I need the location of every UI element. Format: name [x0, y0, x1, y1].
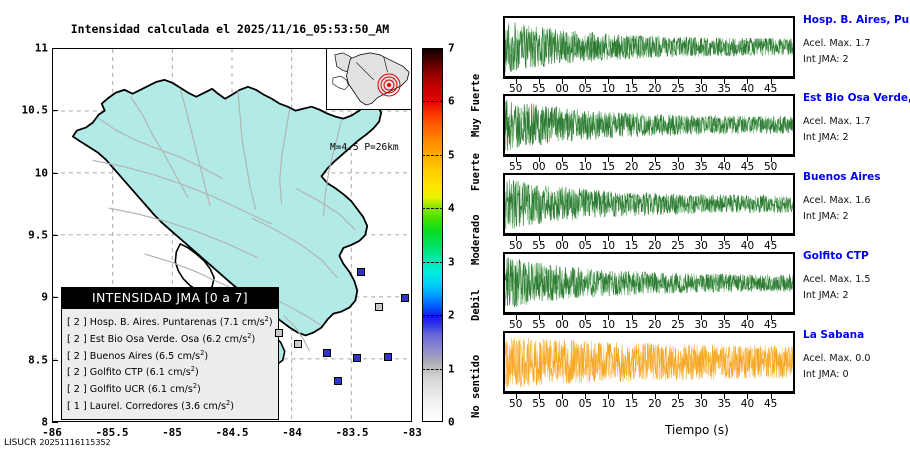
- axis-line: [503, 314, 795, 315]
- axis-tick-label: 40: [741, 398, 754, 410]
- axis-tick-label: 55: [532, 240, 545, 252]
- axis-line: [503, 156, 795, 157]
- waveform-primary-component: [505, 338, 793, 387]
- intensity-map-figure: Intensidad calculada el 2025/11/16_05:53…: [0, 0, 490, 460]
- map-y-tick-label: 9: [4, 291, 48, 304]
- footer-lab: LISUCR: [4, 438, 37, 448]
- seismogram-x-axis: 550005101520253035404550: [503, 156, 795, 172]
- axis-tick-label: 40: [718, 161, 731, 173]
- axis-tick-label: 00: [555, 398, 568, 410]
- axis-tick-label: 45: [764, 240, 777, 252]
- seismogram-x-axis: 505500051015202530354045: [503, 235, 795, 251]
- axis-tick-label: 25: [648, 161, 661, 173]
- seismogram-trace-box[interactable]: [503, 331, 795, 393]
- axis-line: [503, 78, 795, 79]
- map-y-tick-mark: [52, 173, 58, 174]
- map-y-tick-mark: [52, 235, 58, 236]
- colorbar-tick-label: 2: [448, 309, 455, 322]
- map-title: Intensidad calculada el 2025/11/16_05:53…: [0, 22, 460, 36]
- seismogram-jma-intensity: Int JMA: 2: [803, 211, 849, 222]
- axis-tick-label: 25: [671, 240, 684, 252]
- axis-tick-label: 05: [555, 161, 568, 173]
- seismogram-station-name[interactable]: Hosp. B. Aires, Puntare: [803, 14, 910, 26]
- map-inset-overview: [326, 48, 412, 110]
- seismogram-jma-intensity: Int JMA: 2: [803, 290, 849, 301]
- seismogram-max-acceleration: Acel. Max. 0.0: [803, 353, 871, 364]
- axis-tick-label: 00: [532, 161, 545, 173]
- seismogram-max-acceleration: Acel. Max. 1.7: [803, 38, 871, 49]
- map-x-tick-label: -85: [162, 426, 182, 439]
- seismogram-max-acceleration: Acel. Max. 1.6: [803, 195, 871, 206]
- axis-tick-label: 15: [602, 161, 615, 173]
- seismogram-trace-box[interactable]: [503, 173, 795, 235]
- seismogram-station-name[interactable]: Buenos Aires: [803, 171, 880, 183]
- axis-tick-label: 35: [694, 161, 707, 173]
- map-station-marker[interactable]: [357, 268, 365, 276]
- seismogram-station-name[interactable]: Golfito CTP: [803, 250, 869, 262]
- seismogram-trace-box[interactable]: [503, 252, 795, 314]
- seismogram-waveform-svg: [505, 254, 793, 312]
- axis-tick-label: 35: [718, 240, 731, 252]
- axis-tick-label: 45: [764, 319, 777, 331]
- seismogram-x-axis: 505500051015202530354045: [503, 393, 795, 409]
- colorbar-tick-label: 1: [448, 362, 455, 375]
- axis-tick-label: 30: [694, 398, 707, 410]
- map-x-tick-label: -85.5: [95, 426, 128, 439]
- axis-tick-label: 45: [764, 398, 777, 410]
- map-station-marker[interactable]: [294, 340, 302, 348]
- seismogram-waveform-svg: [505, 18, 793, 76]
- colorbar-tick-label: 6: [448, 95, 455, 108]
- axis-tick-label: 55: [532, 398, 545, 410]
- colorbar-tick-label: 4: [448, 202, 455, 215]
- colorbar-tick-label: 7: [448, 42, 455, 55]
- axis-tick-label: 20: [648, 319, 661, 331]
- map-y-tick-mark: [52, 360, 58, 361]
- map-y-tick-mark: [52, 110, 58, 111]
- seismogram-waveform-svg: [505, 96, 793, 154]
- axis-tick-label: 20: [625, 161, 638, 173]
- seismogram-waveform-svg: [505, 333, 793, 391]
- map-y-tick-label: 11: [4, 42, 48, 55]
- axis-tick-label: 55: [532, 319, 545, 331]
- map-station-marker[interactable]: [334, 377, 342, 385]
- axis-tick-label: 30: [694, 319, 707, 331]
- axis-tick-label: 15: [625, 319, 638, 331]
- axis-tick-label: 50: [509, 240, 522, 252]
- map-y-tick-label: 10: [4, 166, 48, 179]
- axis-tick-label: 35: [718, 398, 731, 410]
- axis-tick-label: 00: [555, 319, 568, 331]
- axis-tick-label: 35: [718, 319, 731, 331]
- seismogram-panels: Tiempo (s) 505500051015202530354045Hosp.…: [490, 0, 910, 460]
- colorbar-category-label: Debil: [470, 289, 482, 321]
- seismogram-jma-intensity: Int JMA: 2: [803, 132, 849, 143]
- axis-tick-label: 05: [579, 398, 592, 410]
- axis-tick-label: 55: [509, 161, 522, 173]
- footer-credit: LISUCR 20251116115352: [4, 438, 111, 448]
- axis-tick-label: 10: [602, 240, 615, 252]
- seismogram-station-name[interactable]: La Sabana: [803, 329, 864, 341]
- map-y-tick-mark: [52, 422, 58, 423]
- axis-tick-label: 00: [555, 240, 568, 252]
- axis-line: [503, 235, 795, 236]
- axis-tick-label: 10: [602, 398, 615, 410]
- axis-tick-label: 15: [625, 240, 638, 252]
- axis-tick-label: 30: [694, 240, 707, 252]
- axis-tick-label: 40: [741, 319, 754, 331]
- seismogram-jma-intensity: Int JMA: 2: [803, 54, 849, 65]
- footer-timestamp: 20251116115352: [39, 438, 110, 447]
- colorbar-tick-label: 0: [448, 416, 455, 429]
- axis-tick-label: 50: [509, 319, 522, 331]
- seismogram-waveform-svg: [505, 175, 793, 233]
- colorbar-category-label: Fuerte: [470, 153, 482, 191]
- colorbar-category-label: Muy Fuerte: [470, 74, 482, 137]
- colorbar-tick-label: 5: [448, 148, 455, 161]
- map-station-marker[interactable]: [353, 354, 361, 362]
- map-station-marker[interactable]: [375, 303, 383, 311]
- map-x-tick-label: -83: [402, 426, 422, 439]
- epicenter-ring-4: [378, 74, 401, 97]
- colorbar-category-label: No sentido: [470, 354, 482, 417]
- axis-tick-label: 10: [579, 161, 592, 173]
- seismogram-trace-box[interactable]: [503, 94, 795, 156]
- axis-tick-label: 25: [671, 319, 684, 331]
- map-x-tick-label: -84.5: [215, 426, 248, 439]
- map-y-tick-mark: [52, 48, 58, 49]
- axis-tick-label: 20: [648, 398, 661, 410]
- seismogram-x-axis: 505500051015202530354045: [503, 314, 795, 330]
- axis-tick-label: 05: [579, 240, 592, 252]
- seismogram-trace-box[interactable]: [503, 16, 795, 78]
- axis-tick-label: 50: [764, 161, 777, 173]
- axis-tick-label: 20: [648, 240, 661, 252]
- map-x-tick-label: -84: [282, 426, 302, 439]
- map-station-marker[interactable]: [275, 329, 283, 337]
- axis-tick-label: 15: [625, 398, 638, 410]
- axis-line: [503, 393, 795, 394]
- axis-tick-label: 50: [509, 398, 522, 410]
- inset-magnitude-depth: M=4.5 P=26km: [330, 142, 399, 153]
- axis-tick-label: 45: [741, 161, 754, 173]
- colorbar-tick-label: 3: [448, 255, 455, 268]
- map-x-tick-label: -86: [42, 426, 62, 439]
- seismogram-jma-intensity: Int JMA: 0: [803, 369, 849, 380]
- colorbar-category-label: Moderado: [470, 214, 482, 265]
- seismogram-x-axis: 505500051015202530354045: [503, 78, 795, 94]
- axis-tick-label: 10: [602, 319, 615, 331]
- seismogram-x-axis-label: Tiempo (s): [665, 423, 729, 437]
- map-station-marker[interactable]: [401, 294, 409, 302]
- map-y-tick-mark: [52, 297, 58, 298]
- axis-tick-label: 05: [579, 319, 592, 331]
- map-y-tick-label: 8.5: [4, 353, 48, 366]
- seismogram-station-name[interactable]: Est Bio Osa Verde, Osa: [803, 92, 910, 104]
- intensity-colorbar: [422, 48, 443, 422]
- map-station-marker[interactable]: [323, 349, 331, 357]
- seismogram-max-acceleration: Acel. Max. 1.5: [803, 274, 871, 285]
- map-y-tick-label: 9.5: [4, 229, 48, 242]
- axis-tick-label: 25: [671, 398, 684, 410]
- axis-tick-label: 30: [671, 161, 684, 173]
- map-y-tick-label: 10.5: [4, 104, 48, 117]
- map-station-marker[interactable]: [384, 353, 392, 361]
- axis-tick-label: 40: [741, 240, 754, 252]
- map-x-tick-label: -83.5: [335, 426, 368, 439]
- seismogram-max-acceleration: Acel. Max. 1.7: [803, 116, 871, 127]
